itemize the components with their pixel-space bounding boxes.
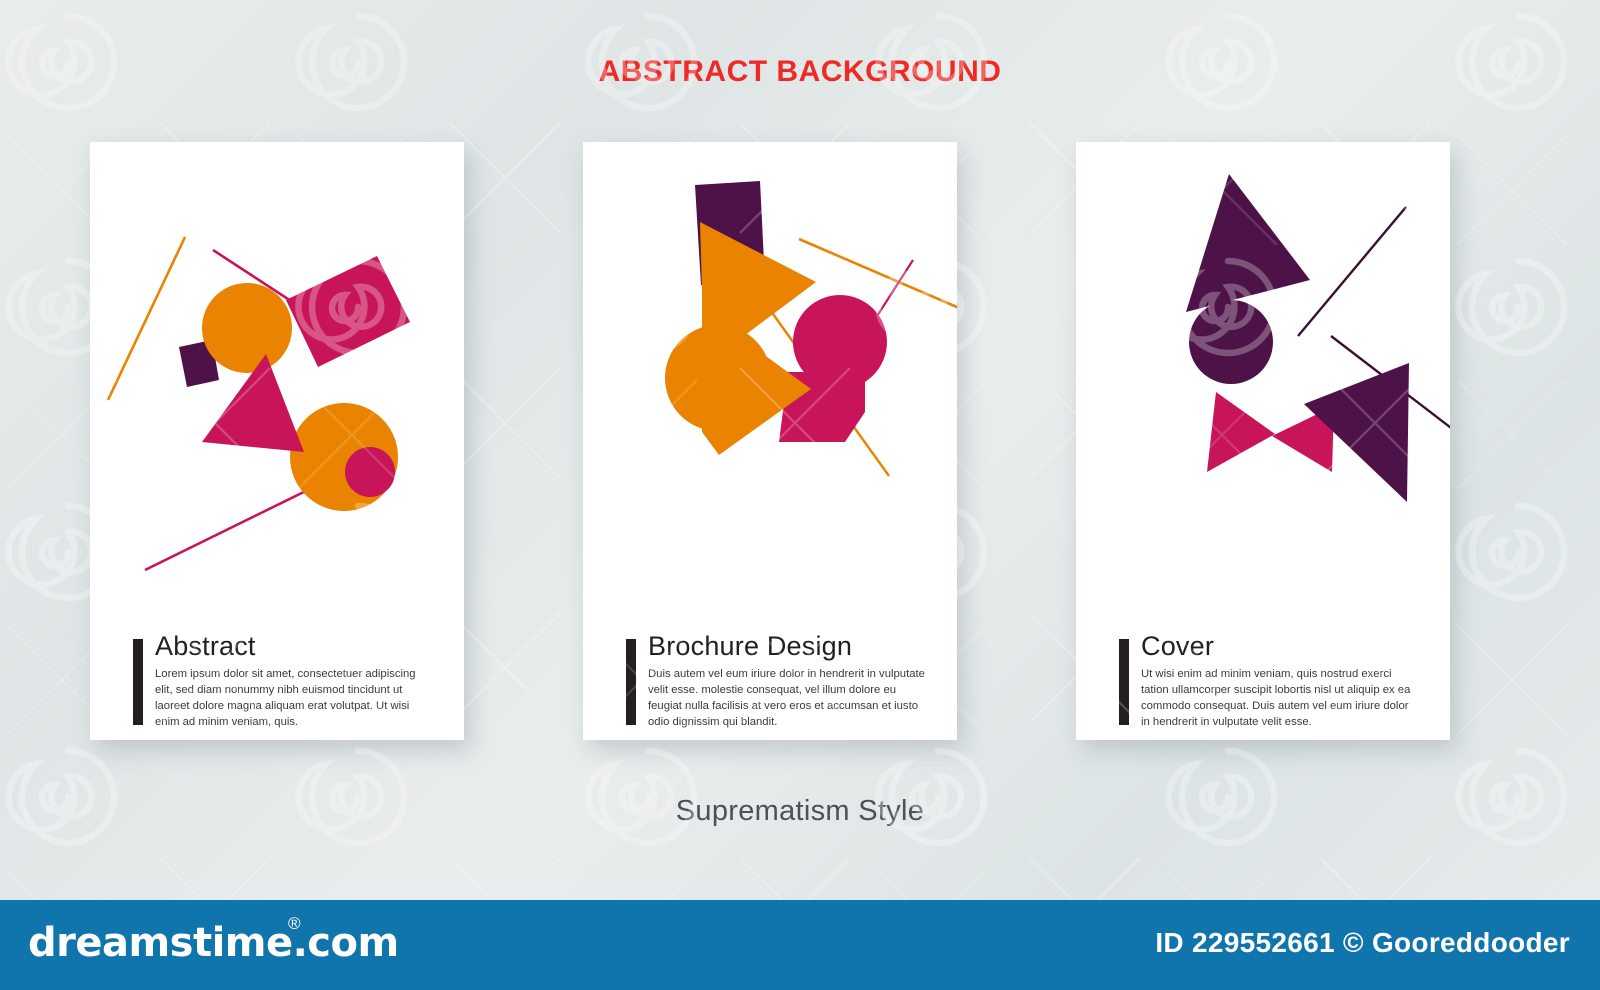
orange-circle-upper (202, 283, 292, 373)
registered-trademark-icon: ® (288, 914, 301, 934)
card-artwork-brochure (583, 142, 957, 602)
card-body-text: Duis autem vel eum iriure dolor in hendr… (648, 666, 926, 730)
magenta-triangle-left (1207, 392, 1275, 472)
poster-card-brochure: Brochure Design Duis autem vel eum iriur… (583, 142, 957, 740)
card-artwork-cover (1076, 142, 1450, 602)
accent-bar (626, 639, 636, 725)
page-subtitle: Suprematism Style (0, 795, 1600, 828)
stock-image-canvas: ABSTRACT BACKGROUND (0, 0, 1600, 990)
card-artwork-abstract (90, 142, 464, 602)
card-text-block-cover: Cover Ut wisi enim ad minim veniam, quis… (1119, 633, 1419, 730)
magenta-small-circle (345, 447, 395, 497)
accent-bar (1119, 639, 1129, 725)
orange-diagonal-line (108, 237, 185, 400)
card-title: Brochure Design (648, 633, 926, 660)
poster-card-abstract: Abstract Lorem ipsum dolor sit amet, con… (90, 142, 464, 740)
card-body-text: Ut wisi enim ad minim veniam, quis nostr… (1141, 666, 1419, 730)
purple-line-upper (1298, 207, 1406, 336)
image-id-credit: ID 229552661 © Gooreddooder (1155, 927, 1570, 959)
purple-triangle-upper (1186, 174, 1310, 312)
card-title: Abstract (155, 633, 433, 660)
card-body-text: Lorem ipsum dolor sit amet, consectetuer… (155, 666, 433, 730)
card-title: Cover (1141, 633, 1419, 660)
page-headline: ABSTRACT BACKGROUND (0, 55, 1600, 89)
dreamstime-logo[interactable]: dreamstime.com (28, 920, 399, 966)
card-text-block-brochure: Brochure Design Duis autem vel eum iriur… (626, 633, 926, 730)
dreamstime-footer-bar: dreamstime.com ® ID 229552661 © Gooreddo… (0, 900, 1600, 990)
card-text-block-abstract: Abstract Lorem ipsum dolor sit amet, con… (133, 633, 433, 730)
poster-card-cover: Cover Ut wisi enim ad minim veniam, quis… (1076, 142, 1450, 740)
purple-circle (1189, 300, 1273, 384)
magenta-rotated-rectangle (286, 256, 410, 367)
accent-bar (133, 639, 143, 725)
